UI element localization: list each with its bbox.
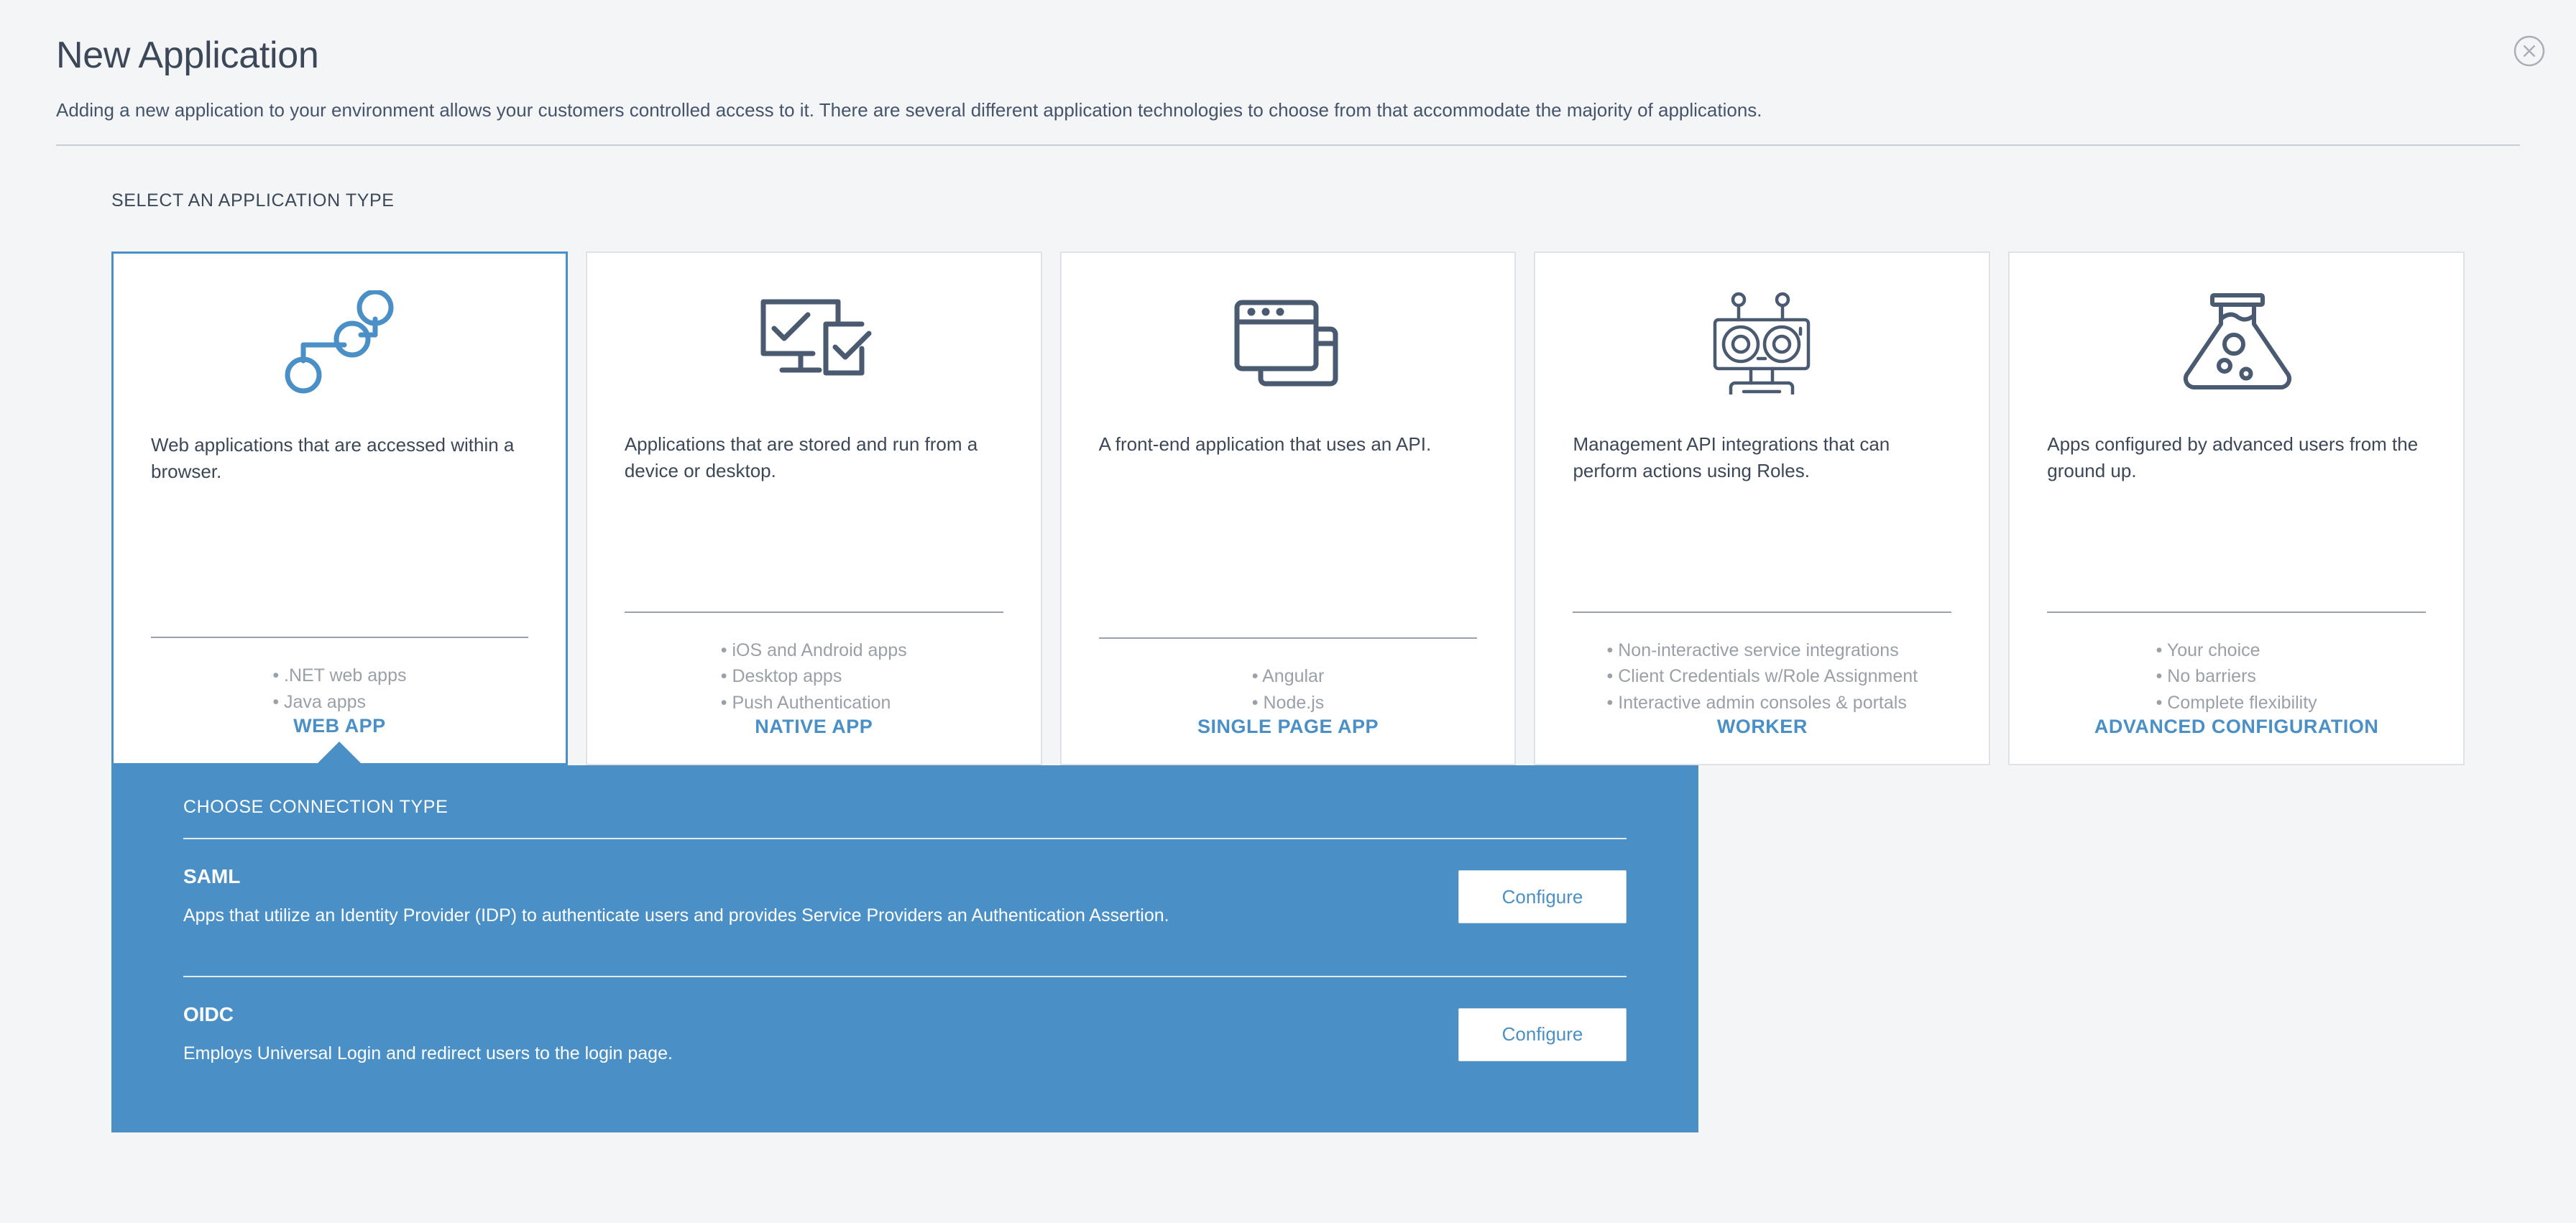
card-cta-label[interactable]: ADVANCED CONFIGURATION <box>2047 716 2426 764</box>
connection-name: SAML <box>183 865 1169 888</box>
application-type-card-worker[interactable]: Management API integrations that can per… <box>1534 251 1990 765</box>
browser-windows-icon <box>1099 253 1478 431</box>
connection-row-text: OIDC Employs Universal Login and redirec… <box>183 1003 673 1066</box>
desktop-and-mobile-check-icon <box>625 253 1003 431</box>
page-header: New Application Adding a new application… <box>0 0 2576 123</box>
connection-row-text: SAML Apps that utilize an Identity Provi… <box>183 865 1169 928</box>
card-cta-label[interactable]: SINGLE PAGE APP <box>1099 716 1478 764</box>
spacer <box>625 500 1003 611</box>
choose-connection-type-panel: CHOOSE CONNECTION TYPE SAML Apps that ut… <box>111 765 1698 1132</box>
connection-row-saml: SAML Apps that utilize an Identity Provi… <box>167 839 1642 956</box>
list-item: iOS and Android apps <box>721 637 907 664</box>
close-icon[interactable] <box>2513 34 2546 68</box>
card-cta-label[interactable]: WORKER <box>1573 716 1951 764</box>
connection-name: OIDC <box>183 1003 673 1026</box>
application-type-card-single-page-app[interactable]: A front-end application that uses an API… <box>1060 251 1517 765</box>
configure-button-saml[interactable]: Configure <box>1458 870 1627 923</box>
card-description: Applications that are stored and run fro… <box>625 431 1003 500</box>
list-item: No barriers <box>2156 663 2317 690</box>
spacer <box>2047 500 2426 611</box>
list-item: Client Credentials w/Role Assignment <box>1607 663 1918 690</box>
connection-row-oidc: OIDC Employs Universal Login and redirec… <box>167 977 1642 1094</box>
card-bullet-list: Non-interactive service integrations Cli… <box>1607 637 1918 716</box>
connection-panel-title: CHOOSE CONNECTION TYPE <box>183 797 1642 818</box>
spacer <box>1099 500 1478 637</box>
list-item: Angular <box>1252 663 1325 690</box>
card-divider <box>625 611 1003 613</box>
application-type-card-list: Web applications that are accessed withi… <box>111 251 2465 765</box>
panel-pointer-arrow <box>315 742 364 766</box>
card-divider <box>1099 637 1478 639</box>
list-item: Non-interactive service integrations <box>1607 637 1918 664</box>
card-description: Apps configured by advanced users from t… <box>2047 431 2426 500</box>
connection-panel-divider <box>183 838 1627 839</box>
page-subtitle: Adding a new application to your environ… <box>56 97 2520 123</box>
configure-button-oidc[interactable]: Configure <box>1458 1008 1627 1061</box>
list-item: Interactive admin consoles & portals <box>1607 690 1918 716</box>
connection-description: Employs Universal Login and redirect use… <box>183 1042 673 1066</box>
application-type-card-advanced-configuration[interactable]: Apps configured by advanced users from t… <box>2008 251 2465 765</box>
card-divider <box>1573 611 1951 613</box>
list-item: Complete flexibility <box>2156 690 2317 716</box>
connection-row-divider <box>183 976 1627 977</box>
list-item: .NET web apps <box>272 663 406 689</box>
list-item: Desktop apps <box>721 663 907 690</box>
card-description: Web applications that are accessed withi… <box>151 432 528 501</box>
card-bullet-list: .NET web apps Java apps <box>272 663 406 715</box>
card-bullet-list: iOS and Android apps Desktop apps Push A… <box>721 637 907 716</box>
card-bullet-list: Your choice No barriers Complete flexibi… <box>2156 637 2317 716</box>
spacer <box>1573 500 1951 611</box>
application-type-card-native-app[interactable]: Applications that are stored and run fro… <box>586 251 1042 765</box>
section-label: SELECT AN APPLICATION TYPE <box>111 190 2576 211</box>
application-type-card-web-app[interactable]: Web applications that are accessed withi… <box>111 251 568 765</box>
flask-icon <box>2047 253 2426 431</box>
card-description: Management API integrations that can per… <box>1573 431 1951 500</box>
nodes-network-icon <box>151 254 528 432</box>
robot-icon <box>1573 253 1951 431</box>
connection-description: Apps that utilize an Identity Provider (… <box>183 904 1169 928</box>
spacer <box>151 501 528 637</box>
list-item: Java apps <box>272 689 406 716</box>
header-divider <box>56 144 2520 146</box>
list-item: Your choice <box>2156 637 2317 664</box>
card-divider <box>151 637 528 638</box>
card-cta-label[interactable]: NATIVE APP <box>625 716 1003 764</box>
list-item: Node.js <box>1252 690 1325 716</box>
list-item: Push Authentication <box>721 690 907 716</box>
new-application-page: New Application Adding a new application… <box>0 0 2576 1223</box>
card-bullet-list: Angular Node.js <box>1252 663 1325 716</box>
card-divider <box>2047 611 2426 613</box>
page-title: New Application <box>56 34 2520 78</box>
card-description: A front-end application that uses an API… <box>1099 431 1478 500</box>
